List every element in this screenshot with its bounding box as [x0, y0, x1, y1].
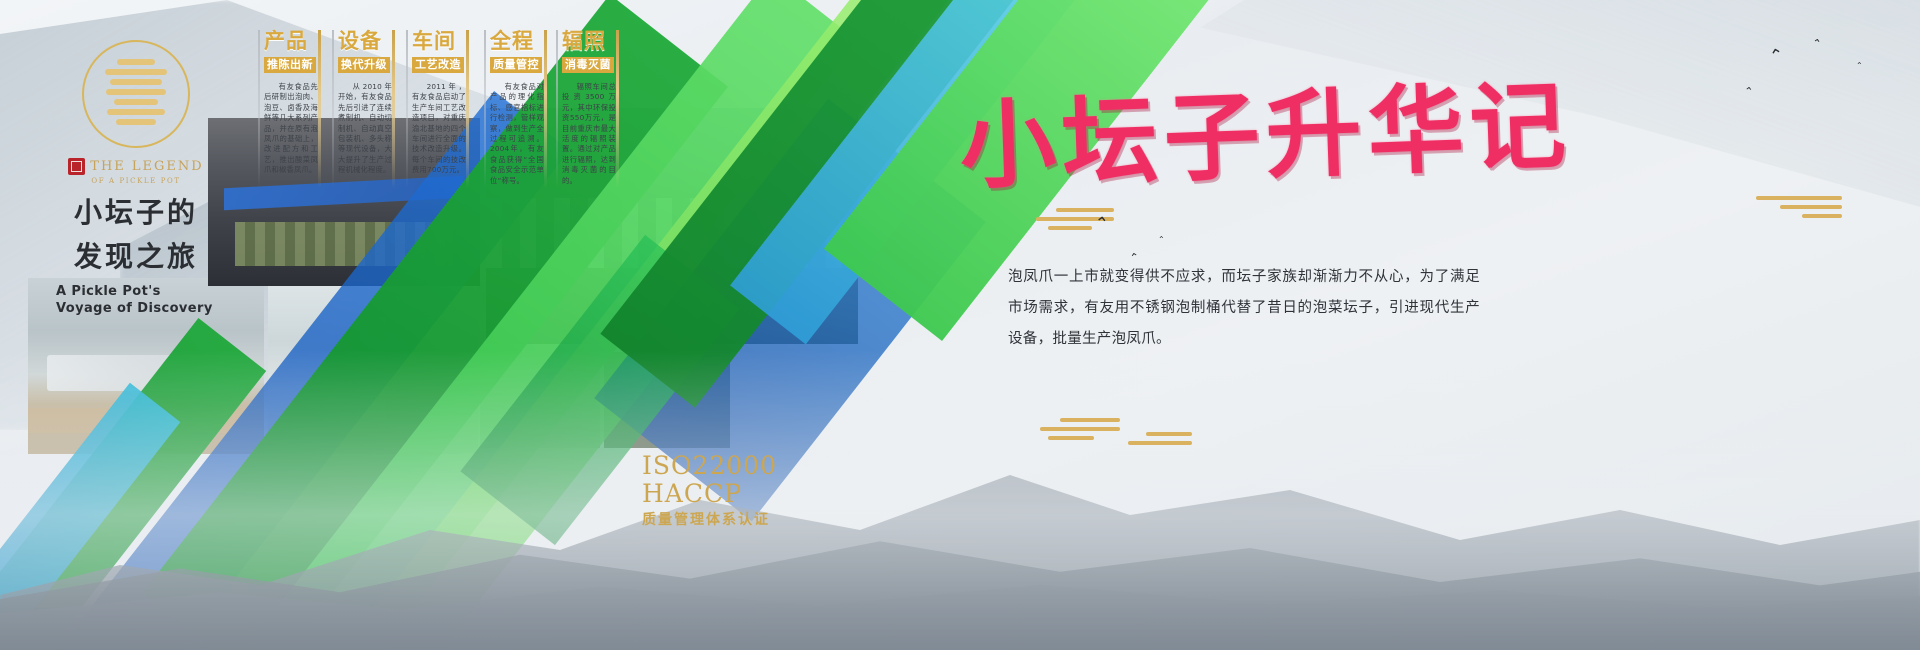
info-column-5: 辐照 消毒灭菌 辐照车间总投资3500万元，其中环保投资550万元，是目前重庆市…	[562, 30, 616, 186]
column-rule-9	[556, 30, 558, 188]
certification-haccp: HACCP	[642, 480, 942, 508]
column-rule-7	[484, 30, 486, 188]
info-column-4-head: 全程	[490, 29, 534, 53]
info-column-2-head: 设备	[338, 29, 382, 53]
gold-cloud-ornament-3	[1040, 418, 1120, 445]
bird-icon-6: ⌃	[1856, 62, 1863, 70]
info-column-3-head: 车间	[412, 29, 456, 53]
poster-canvas: THE LEGEND OF A PICKLE POT 小坛子的 发现之旅 A P…	[0, 0, 1920, 650]
column-rule-10	[616, 30, 619, 188]
info-column-1-sub: 推陈出新	[264, 57, 316, 73]
certification-block: ISO22000 HACCP 质量管理体系认证	[642, 452, 942, 529]
bird-icon-2: ⌃	[1129, 251, 1140, 264]
info-column-2: 设备 换代升级 从2010年开始，有友食品先后引进了连续煮制机、自动切制机、自动…	[338, 30, 392, 176]
info-column-4-body: 有友食品对产品的理化指标、感官指标进行检测，管样观察，做到生产全过程可追溯。20…	[490, 82, 544, 186]
info-column-1-head: 产品	[264, 29, 308, 53]
certification-label-cn: 质量管理体系认证	[642, 511, 942, 529]
column-rule-5	[406, 30, 408, 188]
column-rule-6	[466, 30, 469, 188]
hero-paragraph: 泡凤爪一上市就变得供不应求，而坛子家族却渐渐力不从心，为了满足市场需求，有友用不…	[1008, 262, 1480, 355]
info-column-3-sub: 工艺改造	[412, 57, 464, 73]
legend-wordmark: THE LEGEND	[52, 158, 220, 175]
bird-icon-7: ⌃	[1743, 86, 1753, 98]
gold-cloud-ornament-1	[1756, 196, 1842, 223]
info-column-3: 车间 工艺改造 2011年，有友食品启动了生产车间工艺改造项目，对重庆渝北基地的…	[412, 30, 466, 176]
bird-icon-5: ⌃	[1811, 37, 1822, 49]
legend-sub-text: OF A PICKLE POT	[52, 177, 220, 185]
brand-title-en-line2: Voyage of Discovery	[52, 300, 220, 317]
column-rule-8	[544, 30, 547, 188]
brand-title-cn-line1: 小坛子的	[52, 197, 220, 229]
info-column-2-sub: 换代升级	[338, 57, 390, 73]
column-rule-2	[318, 30, 321, 188]
info-column-5-body: 辐照车间总投资3500万元，其中环保投资550万元，是目前重庆市最大活度的辐照装…	[562, 82, 616, 186]
certification-iso: ISO22000	[642, 452, 942, 480]
info-column-2-body: 从2010年开始，有友食品先后引进了连续煮制机、自动切制机、自动真空包装机、多头…	[338, 82, 392, 176]
info-column-4: 全程 质量管控 有友食品对产品的理化指标、感官指标进行检测，管样观察，做到生产全…	[490, 30, 544, 186]
hero-title: 小坛子升华记	[958, 68, 1522, 217]
bird-icon-3: ⌃	[1158, 236, 1165, 244]
info-column-3-body: 2011年，有友食品启动了生产车间工艺改造项目，对重庆渝北基地的四个车间进行全面…	[412, 82, 466, 176]
brand-logo-block: THE LEGEND OF A PICKLE POT 小坛子的 发现之旅 A P…	[52, 40, 220, 317]
info-column-1: 产品 推陈出新 有友食品先后研制出泡肉、泡豆、卤香及海鲜等几大系列产品，并在原有…	[264, 30, 318, 176]
brand-title-en-line1: A Pickle Pot's	[52, 283, 220, 300]
column-rule-3	[332, 30, 334, 188]
brand-title-cn-line2: 发现之旅	[52, 241, 220, 273]
red-stamp-icon	[68, 158, 85, 175]
info-column-4-sub: 质量管控	[490, 57, 542, 73]
info-column-5-head: 辐照	[562, 29, 606, 53]
bird-icon-1: ⌃	[1093, 215, 1109, 234]
pickle-pot-seal-icon	[82, 40, 190, 148]
column-rule-1	[258, 30, 260, 188]
info-column-1-body: 有友食品先后研制出泡肉、泡豆、卤香及海鲜等几大系列产品，并在原有泡凤爪的基础上，…	[264, 82, 318, 176]
gold-cloud-ornament-4	[1128, 432, 1192, 450]
legend-en-text: THE LEGEND	[90, 159, 203, 174]
info-column-5-sub: 消毒灭菌	[562, 57, 614, 73]
column-rule-4	[392, 30, 395, 188]
